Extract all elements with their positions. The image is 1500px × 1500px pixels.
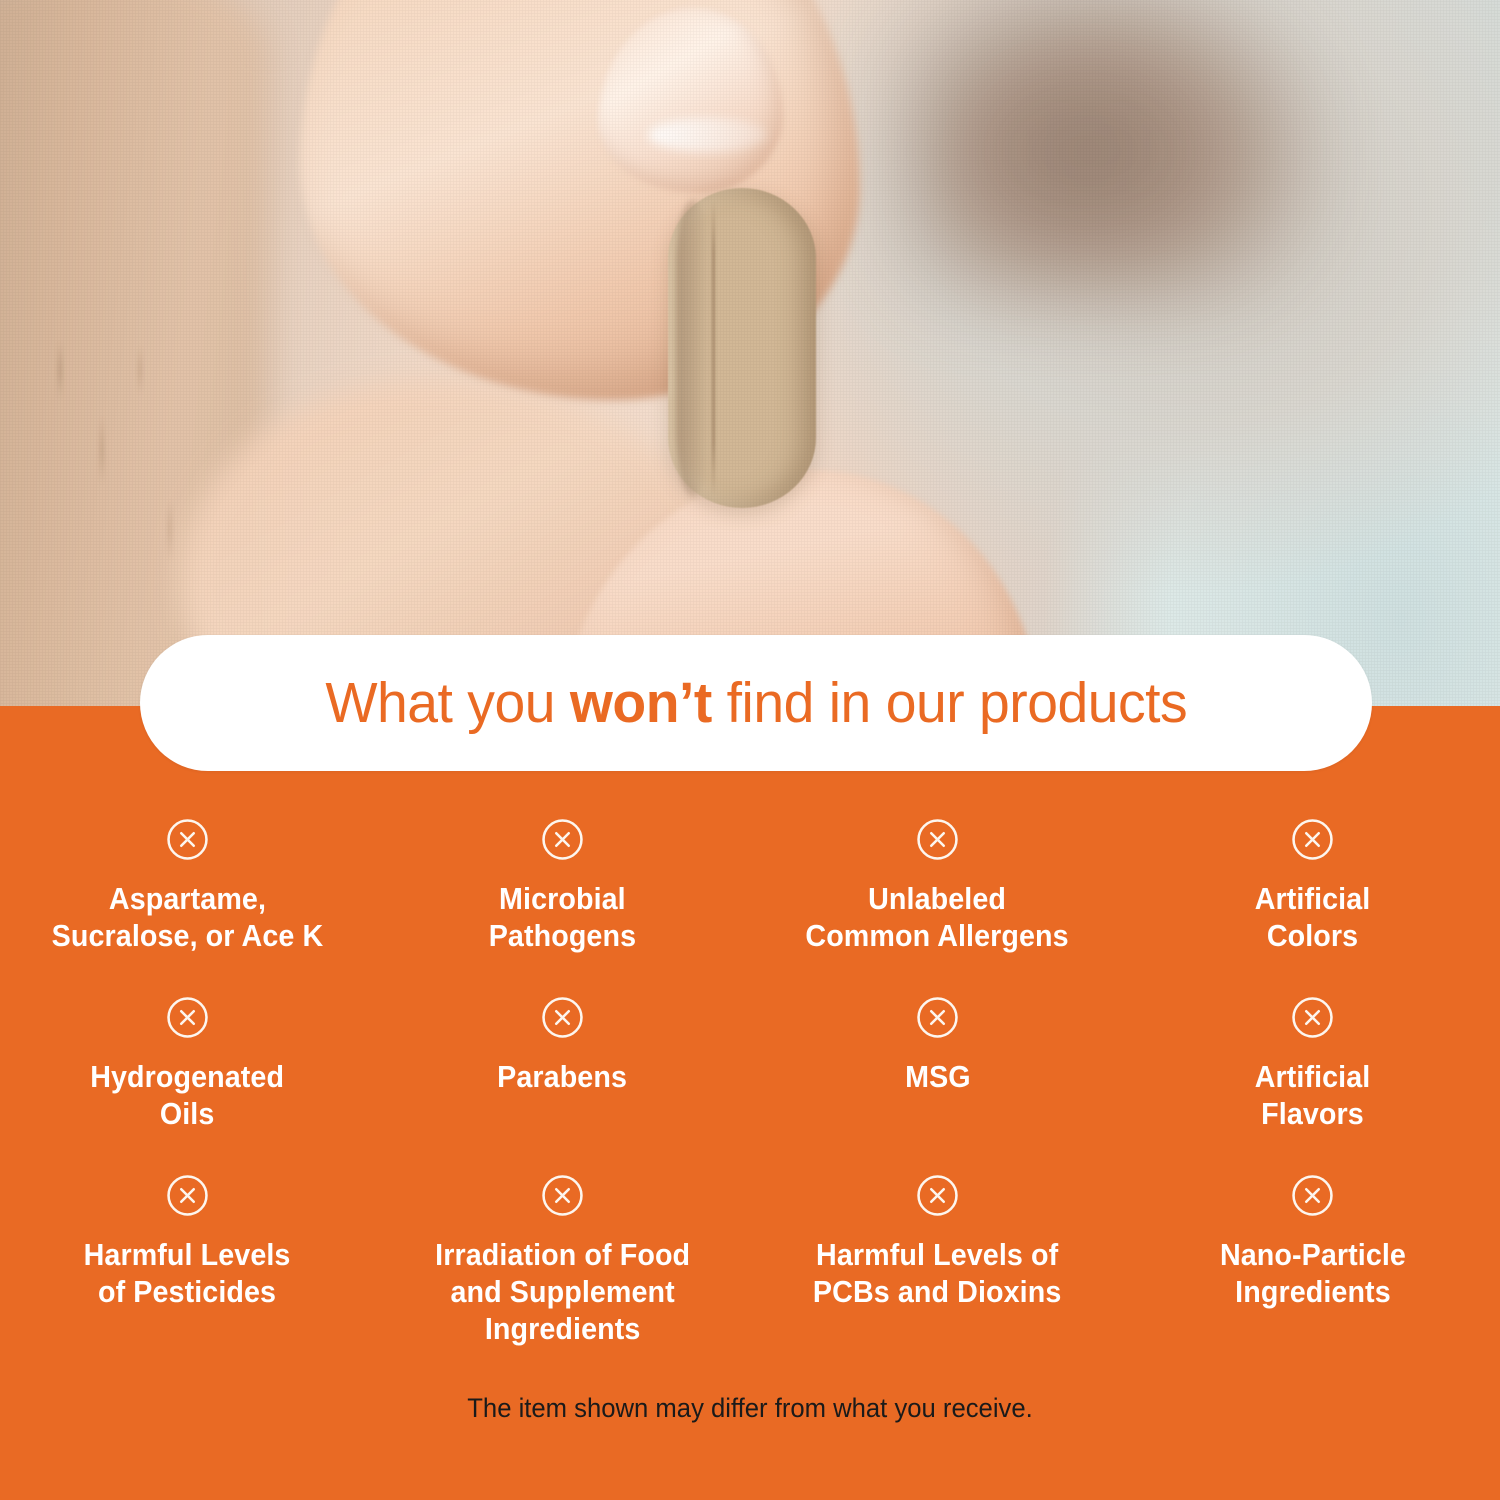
excluded-ingredient-item: MicrobialPathogens <box>375 818 750 996</box>
excluded-ingredient-label: ArtificialColors <box>1255 881 1371 955</box>
excluded-ingredient-item: Irradiation of Foodand SupplementIngredi… <box>375 1174 750 1354</box>
circle-x-icon <box>916 818 959 861</box>
excluded-ingredient-item: Aspartame,Sucralose, or Ace K <box>0 818 375 996</box>
excluded-ingredient-label: ArtificialFlavors <box>1255 1059 1371 1133</box>
page-title-part2: find in our products <box>712 671 1187 735</box>
circle-x-icon <box>916 996 959 1039</box>
excluded-ingredient-label: UnlabeledCommon Allergens <box>806 881 1069 955</box>
excluded-ingredient-label: Nano-ParticleIngredients <box>1219 1237 1405 1311</box>
excluded-ingredient-item: UnlabeledCommon Allergens <box>750 818 1125 996</box>
excluded-ingredients-grid: Aspartame,Sucralose, or Ace KMicrobialPa… <box>0 818 1500 1354</box>
excluded-ingredient-label: Parabens <box>498 1059 628 1096</box>
circle-x-icon <box>1291 818 1334 861</box>
excluded-ingredient-label: Harmful Levels ofPCBs and Dioxins <box>813 1237 1061 1311</box>
circle-x-icon <box>916 1174 959 1217</box>
page-title: What you won’t find in our products <box>325 675 1187 732</box>
excluded-ingredient-item: Harmful Levels ofPCBs and Dioxins <box>750 1174 1125 1354</box>
excluded-ingredient-item: Harmful Levelsof Pesticides <box>0 1174 375 1354</box>
page-title-part1: What you <box>325 671 570 735</box>
page-title-emphasis: won’t <box>570 671 712 735</box>
excluded-ingredient-item: ArtificialFlavors <box>1125 996 1500 1174</box>
excluded-ingredient-item: ArtificialColors <box>1125 818 1500 996</box>
excluded-ingredient-label: MicrobialPathogens <box>489 881 636 955</box>
excluded-ingredient-label: Irradiation of Foodand SupplementIngredi… <box>435 1237 690 1348</box>
circle-x-icon <box>541 818 584 861</box>
circle-x-icon <box>541 1174 584 1217</box>
excluded-ingredient-label: HydrogenatedOils <box>91 1059 285 1133</box>
circle-x-icon <box>166 996 209 1039</box>
excluded-ingredient-item: Nano-ParticleIngredients <box>1125 1174 1500 1354</box>
excluded-ingredient-item: HydrogenatedOils <box>0 996 375 1174</box>
excluded-ingredient-label: MSG <box>905 1059 971 1096</box>
excluded-ingredient-item: MSG <box>750 996 1125 1174</box>
circle-x-icon <box>166 1174 209 1217</box>
excluded-ingredient-label: Harmful Levelsof Pesticides <box>84 1237 291 1311</box>
excluded-ingredient-item: Parabens <box>375 996 750 1174</box>
product-claims-infographic: What you won’t find in our products Aspa… <box>0 0 1500 1500</box>
circle-x-icon <box>1291 996 1334 1039</box>
circle-x-icon <box>166 818 209 861</box>
circle-x-icon <box>541 996 584 1039</box>
disclaimer-footnote: The item shown may differ from what you … <box>38 1391 1463 1425</box>
title-card: What you won’t find in our products <box>140 635 1372 771</box>
photo-grain-overlay <box>0 0 1500 716</box>
product-photo <box>0 0 1500 716</box>
excluded-ingredient-label: Aspartame,Sucralose, or Ace K <box>52 881 324 955</box>
circle-x-icon <box>1291 1174 1334 1217</box>
